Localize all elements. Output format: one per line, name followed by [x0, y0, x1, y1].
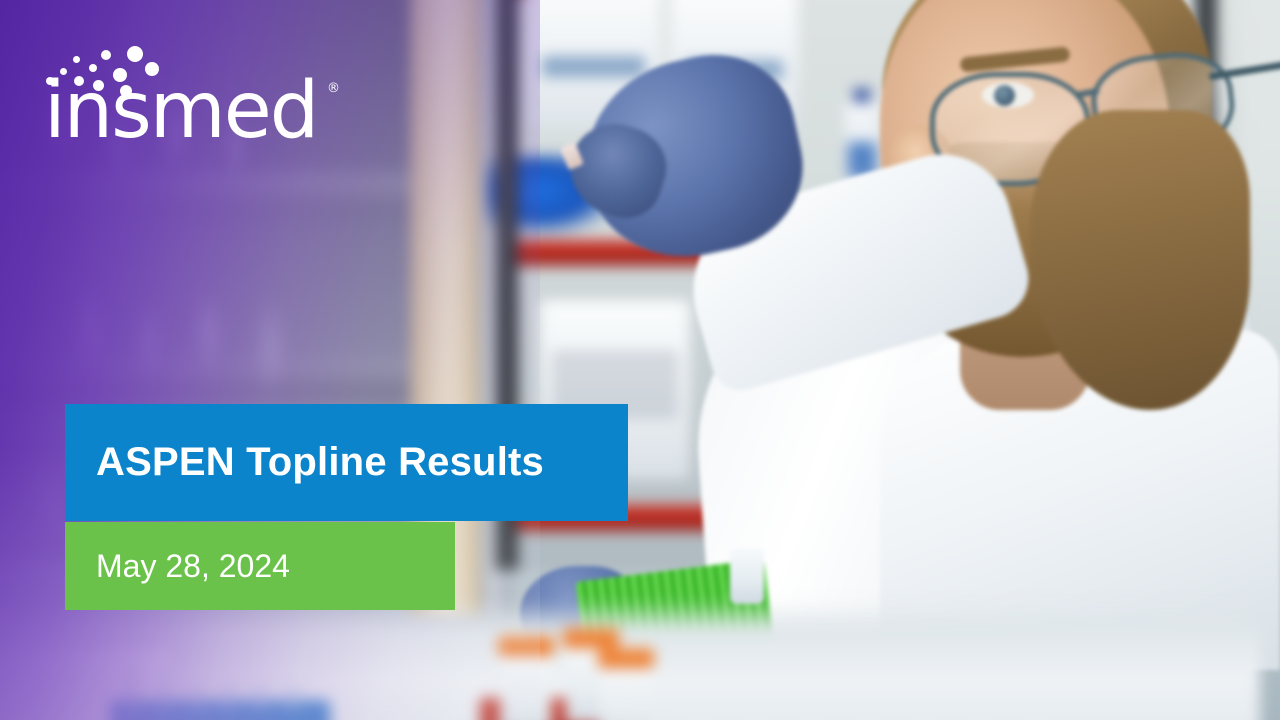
date-banner: May 28, 2024 — [65, 522, 455, 610]
title-slide: insmed ® ASPEN Topline Results May 28, 2… — [0, 0, 1280, 720]
title-banner: ASPEN Topline Results — [65, 404, 628, 521]
insmed-wordmark: insmed — [44, 72, 317, 150]
slide-title: ASPEN Topline Results — [96, 440, 544, 485]
specimen-container — [600, 664, 652, 720]
registered-trademark-symbol: ® — [327, 82, 340, 95]
insmed-logo[interactable]: insmed ® — [44, 44, 374, 154]
slide-date: May 28, 2024 — [96, 548, 290, 585]
